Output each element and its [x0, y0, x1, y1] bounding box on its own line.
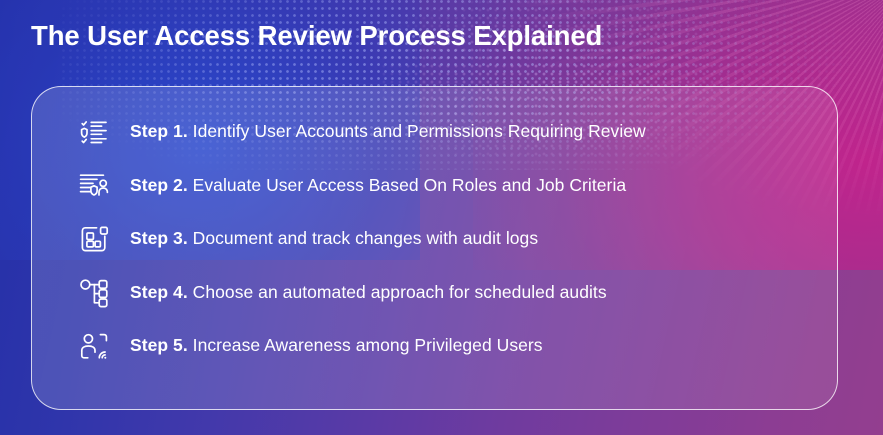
list-item: Step 5. Increase Awareness among Privile…	[32, 319, 837, 373]
step-description: Choose an automated approach for schedul…	[193, 282, 607, 302]
steps-list: Step 1. Identify User Accounts and Permi…	[32, 87, 837, 373]
list-item: Step 1. Identify User Accounts and Permi…	[32, 105, 837, 159]
step-text: Step 4. Choose an automated approach for…	[130, 282, 607, 303]
user-broadcast-icon	[74, 326, 114, 366]
step-text: Step 1. Identify User Accounts and Permi…	[130, 121, 646, 142]
step-description: Document and track changes with audit lo…	[193, 228, 539, 248]
step-label: Step 2.	[130, 175, 188, 195]
list-item: Step 4. Choose an automated approach for…	[32, 266, 837, 320]
step-label: Step 5.	[130, 335, 188, 355]
step-label: Step 3.	[130, 228, 188, 248]
step-text: Step 3. Document and track changes with …	[130, 228, 538, 249]
step-description: Evaluate User Access Based On Roles and …	[193, 175, 627, 195]
step-label: Step 4.	[130, 282, 188, 302]
hierarchy-tree-icon	[74, 272, 114, 312]
steps-card: Step 1. Identify User Accounts and Permi…	[31, 86, 838, 410]
list-item: Step 2. Evaluate User Access Based On Ro…	[32, 159, 837, 213]
infographic-canvas: The User Access Review Process Explained	[0, 0, 883, 435]
document-blocks-icon	[74, 219, 114, 259]
user-shield-list-icon	[74, 165, 114, 205]
step-description: Identify User Accounts and Permissions R…	[193, 121, 646, 141]
checklist-shield-icon	[74, 112, 114, 152]
step-description: Increase Awareness among Privileged User…	[193, 335, 543, 355]
list-item: Step 3. Document and track changes with …	[32, 212, 837, 266]
page-title: The User Access Review Process Explained	[31, 20, 602, 52]
step-text: Step 5. Increase Awareness among Privile…	[130, 335, 543, 356]
step-label: Step 1.	[130, 121, 188, 141]
step-text: Step 2. Evaluate User Access Based On Ro…	[130, 175, 626, 196]
